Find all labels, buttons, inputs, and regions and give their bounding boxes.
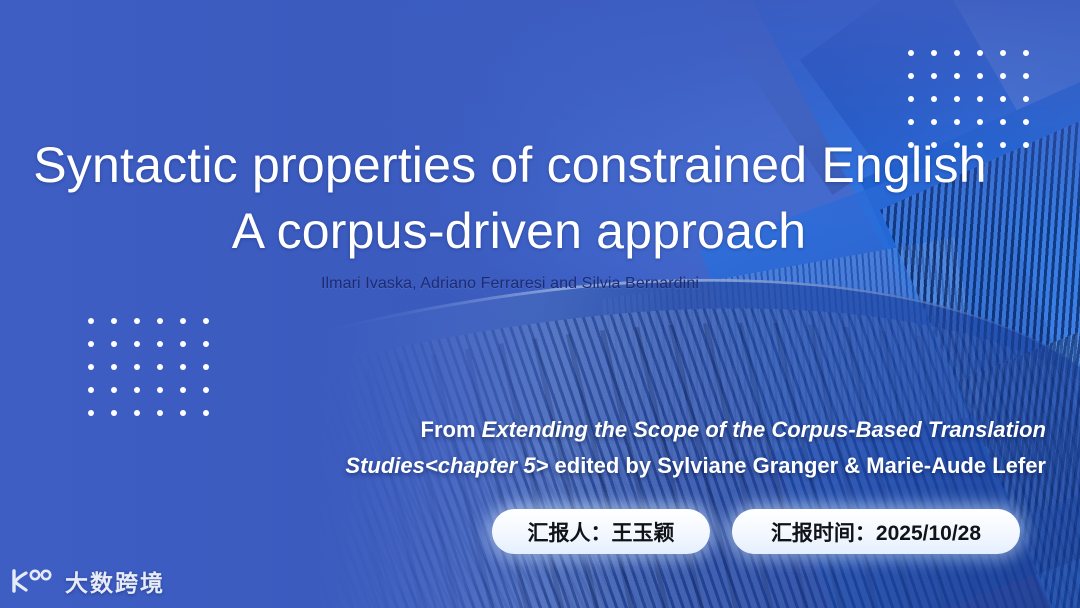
decorative-dot [1000, 73, 1006, 79]
decorative-dot [111, 364, 117, 370]
decorative-dot [908, 96, 914, 102]
decorative-dot [954, 50, 960, 56]
decorative-dot [977, 119, 983, 125]
decorative-dot [203, 410, 209, 416]
watermark: 大数跨境 [10, 564, 165, 598]
decorative-dot [931, 119, 937, 125]
citation-book-title-line1: Extending the Scope of the Corpus-Based … [482, 417, 1046, 442]
decorative-dot [111, 410, 117, 416]
decorative-dot [931, 96, 937, 102]
decorative-dot [157, 341, 163, 347]
title-slide: Syntactic properties of constrained Engl… [0, 0, 1080, 608]
decorative-dot [157, 364, 163, 370]
decorative-dot [157, 387, 163, 393]
decorative-dot [203, 341, 209, 347]
decorative-dot [1023, 119, 1029, 125]
decorative-dot [1023, 73, 1029, 79]
dot-grid-left [88, 318, 226, 433]
title-line-1: Syntactic properties of constrained Engl… [0, 132, 1020, 198]
date-pill[interactable]: 汇报时间：2025/10/28 [732, 509, 1020, 554]
decorative-dot [180, 410, 186, 416]
decorative-dot [134, 410, 140, 416]
decorative-dot [1023, 96, 1029, 102]
decorative-dot [180, 387, 186, 393]
decorative-dot [134, 387, 140, 393]
decorative-dot [1000, 119, 1006, 125]
watermark-text: 大数跨境 [65, 564, 165, 598]
decorative-dot [157, 410, 163, 416]
decorative-dot [977, 50, 983, 56]
decorative-dot [134, 364, 140, 370]
decorative-dot [180, 364, 186, 370]
citation-editors: edited by Sylviane Granger & Marie-Aude … [548, 453, 1046, 478]
presenter-pill[interactable]: 汇报人：王玉颖 [492, 509, 710, 554]
decorative-dot [111, 341, 117, 347]
decorative-dot [954, 96, 960, 102]
decorative-dot [88, 364, 94, 370]
decorative-dot [180, 341, 186, 347]
decorative-dot [977, 96, 983, 102]
decorative-dot [180, 318, 186, 324]
decorative-dot [1023, 50, 1029, 56]
author-list: Ilmari Ivaska, Adriano Ferraresi and Sil… [0, 275, 1020, 293]
decorative-dot [203, 318, 209, 324]
decorative-dot [908, 50, 914, 56]
citation-prefix: From [421, 417, 482, 442]
decorative-dot [88, 318, 94, 324]
decorative-dot [931, 50, 937, 56]
decorative-dot [111, 318, 117, 324]
decorative-dot [134, 318, 140, 324]
meta-pill-row: 汇报人：王玉颖 汇报时间：2025/10/28 [0, 509, 1020, 554]
decorative-dot [111, 387, 117, 393]
decorative-dot [157, 318, 163, 324]
page-title: Syntactic properties of constrained Engl… [0, 132, 1020, 264]
decorative-dot [908, 73, 914, 79]
decorative-dot [88, 410, 94, 416]
decorative-dot [88, 341, 94, 347]
source-citation: From Extending the Scope of the Corpus-B… [286, 412, 1046, 483]
decorative-dot [908, 119, 914, 125]
k-logo-icon [10, 568, 56, 594]
decorative-dot [1023, 142, 1029, 148]
title-line-2: A corpus-driven approach [0, 198, 1020, 264]
decorative-dot [954, 73, 960, 79]
decorative-dot [954, 119, 960, 125]
citation-book-title-line2: Studies<chapter 5> [345, 453, 548, 478]
decorative-dot [977, 73, 983, 79]
decorative-dot [203, 387, 209, 393]
decorative-dot [134, 341, 140, 347]
decorative-dot [203, 364, 209, 370]
decorative-dot [88, 387, 94, 393]
decorative-dot [931, 73, 937, 79]
decorative-dot [1000, 96, 1006, 102]
decorative-dot [1000, 50, 1006, 56]
